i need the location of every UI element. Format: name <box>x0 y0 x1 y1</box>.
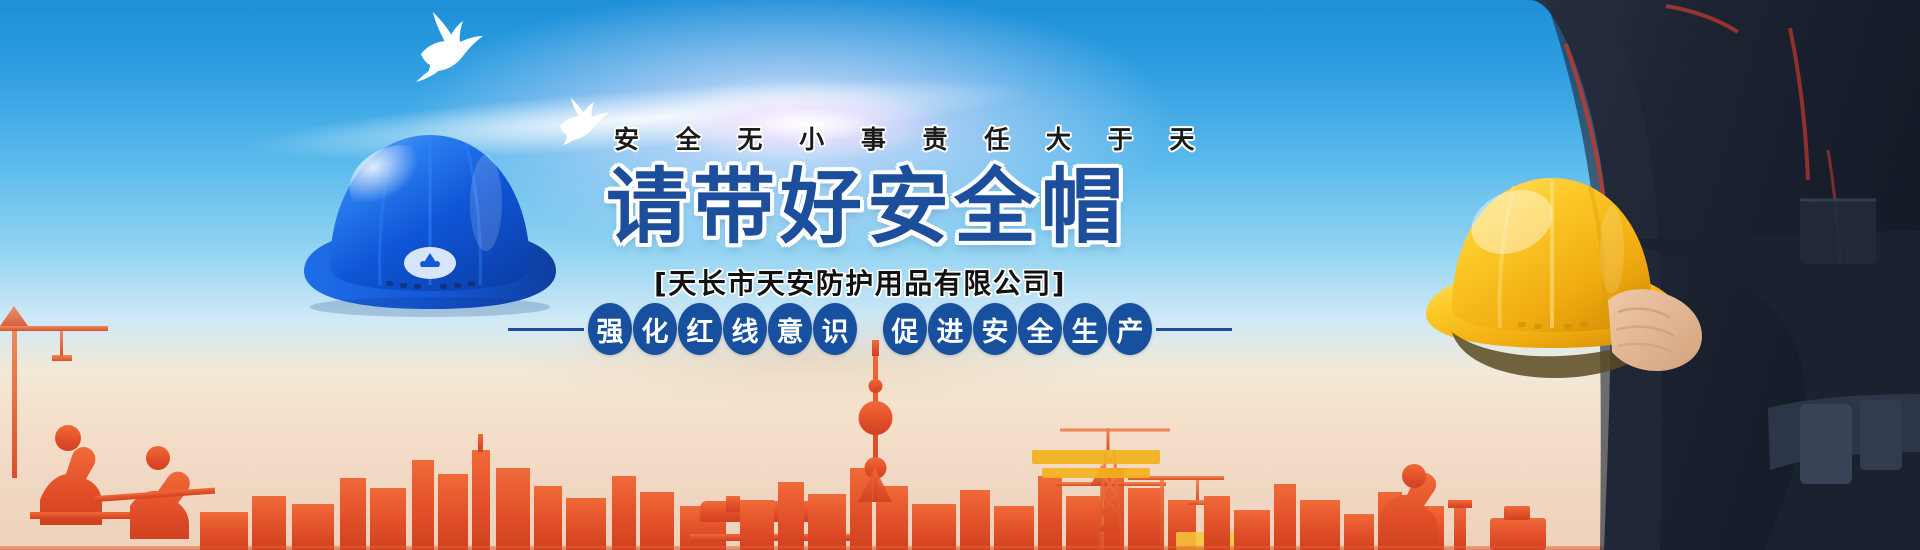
tagline-chip: 安 <box>973 303 1017 355</box>
tagline-chip: 产 <box>1108 303 1152 355</box>
helmet-badge-icon <box>404 247 456 279</box>
tagline-chip: 意 <box>768 303 812 355</box>
tagline-bar: 强 化 红 线 意 识 促 进 安 全 生 产 <box>520 303 1220 355</box>
tagline-chip: 识 <box>813 303 857 355</box>
worker-silhouette-icon <box>1360 0 1920 550</box>
headline: 请带好安全帽 <box>606 168 1120 248</box>
tagline-chip: 进 <box>928 303 972 355</box>
tagline-chip: 生 <box>1063 303 1107 355</box>
slogan-top: 安 全 无 小 事 责 任 大 于 天 <box>614 120 1120 156</box>
tagline-chip: 全 <box>1018 303 1062 355</box>
tagline-rule-right <box>1156 328 1232 331</box>
tagline-chip: 促 <box>883 303 927 355</box>
company-name: [天长市天安防护用品有限公司] <box>600 262 1120 302</box>
headline-block: 安 全 无 小 事 责 任 大 于 天 请带好安全帽 [天长市天安防护用品有限公… <box>600 120 1120 302</box>
tagline-rule-left <box>508 328 584 331</box>
tagline-chip: 红 <box>678 303 722 355</box>
tagline-chip: 化 <box>633 303 677 355</box>
safety-banner: 安 全 无 小 事 责 任 大 于 天 请带好安全帽 [天长市天安防护用品有限公… <box>0 0 1920 550</box>
tagline-chip: 强 <box>588 303 632 355</box>
tagline-chips-left: 强 化 红 线 意 识 <box>588 303 857 355</box>
dove-icon <box>405 8 495 88</box>
tagline-chips-right: 促 进 安 全 生 产 <box>883 303 1152 355</box>
tagline-chip: 线 <box>723 303 767 355</box>
